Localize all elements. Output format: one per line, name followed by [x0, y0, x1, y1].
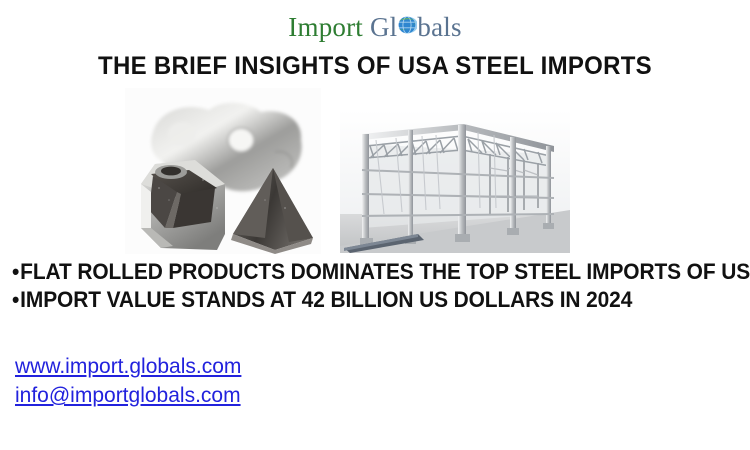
bullet-marker: • [12, 258, 19, 286]
bullet-list: •FLAT ROLLED PRODUCTS DOMINATES THE TOP … [12, 258, 750, 314]
brand-logo: ImportGl bals [0, 14, 750, 41]
list-item: •IMPORT VALUE STANDS AT 42 BILLION US DO… [12, 286, 713, 314]
slide-canvas: ImportGl bals THE BRIEF INSIGHTS OF USA … [0, 0, 750, 450]
globe-icon [397, 15, 417, 35]
logo-text-import: Import [288, 14, 363, 41]
logo-text-gl: Gl [370, 14, 397, 41]
website-link[interactable]: www.import.globals.com [15, 352, 241, 381]
logo-text-bals: bals [417, 14, 461, 41]
steel-structure-photo [340, 110, 570, 253]
page-title: THE BRIEF INSIGHTS OF USA STEEL IMPORTS [15, 52, 735, 81]
contact-links: www.import.globals.com info@importglobal… [15, 352, 241, 410]
bullet-text: IMPORT VALUE STANDS AT 42 BILLION US DOL… [20, 287, 632, 312]
email-link[interactable]: info@importglobals.com [15, 381, 241, 410]
steel-castings-photo [125, 88, 321, 254]
bullet-marker: • [12, 286, 19, 314]
list-item: •FLAT ROLLED PRODUCTS DOMINATES THE TOP … [12, 258, 713, 286]
bullet-text: FLAT ROLLED PRODUCTS DOMINATES THE TOP S… [20, 259, 750, 284]
